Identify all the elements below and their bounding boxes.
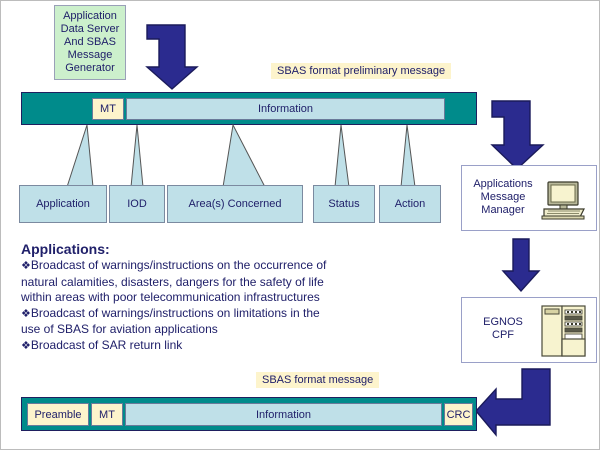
- field-mt-preliminary-label: MT: [100, 103, 116, 115]
- applications-item-3: ❖Broadcast of warnings/instructions on l…: [21, 306, 421, 323]
- applications-item-5-text: Broadcast of SAR return link: [31, 338, 182, 352]
- field-information-final: Information: [125, 403, 442, 426]
- panel1-line-0: Applications: [470, 178, 536, 191]
- field-mt-final: MT: [91, 403, 123, 426]
- applications-item-2: within areas with poor telecommunication…: [21, 290, 421, 306]
- field-information-final-label: Information: [256, 409, 311, 421]
- source-line-2: And SBAS: [64, 36, 116, 49]
- final-message-label: SBAS format message: [256, 372, 379, 388]
- panel1-line-2: Manager: [470, 204, 536, 217]
- server-rack-icon: [540, 304, 588, 358]
- source-line-0: Application: [63, 10, 117, 23]
- callout-action: Action: [379, 125, 441, 225]
- arrow-bar-to-manager: [490, 99, 550, 171]
- field-preamble-label: Preamble: [34, 409, 81, 421]
- field-mt-final-label: MT: [99, 409, 115, 421]
- panel-egnos-cpf: EGNOS CPF: [461, 297, 597, 363]
- callout-application-label: Application: [36, 198, 90, 210]
- callout-iod-box: IOD: [109, 185, 165, 223]
- field-preamble: Preamble: [27, 403, 89, 426]
- panel2-line-1: CPF: [472, 329, 534, 342]
- application-data-server-box: Application Data Server And SBAS Message…: [54, 5, 126, 80]
- field-information-preliminary: Information: [126, 98, 445, 120]
- callout-status-label: Status: [328, 198, 359, 210]
- applications-item-4-text: use of SBAS for aviation applications: [21, 322, 218, 336]
- callout-action-box: Action: [379, 185, 441, 223]
- arrow-manager-to-cpf: [501, 237, 541, 293]
- diagram-canvas: Application Data Server And SBAS Message…: [0, 0, 600, 450]
- applications-item-5: ❖Broadcast of SAR return link: [21, 338, 421, 355]
- applications-item-0-text: Broadcast of warnings/instructions on th…: [31, 258, 327, 272]
- final-message-bar: Preamble MT Information CRC: [21, 397, 477, 431]
- bullet-icon: ❖: [21, 308, 31, 320]
- final-message-label-text: SBAS format message: [262, 374, 373, 386]
- panel-egnos-cpf-text: EGNOS CPF: [472, 316, 534, 342]
- applications-item-1-text: natural calamities, disasters, dangers f…: [21, 275, 324, 289]
- callout-status: Status: [313, 125, 375, 225]
- applications-item-4: use of SBAS for aviation applications: [21, 322, 421, 338]
- callout-application: Application: [19, 125, 107, 225]
- field-crc-label: CRC: [447, 409, 471, 421]
- callout-areas-concerned-label: Area(s) Concerned: [189, 198, 282, 210]
- callout-application-box: Application: [19, 185, 107, 223]
- applications-item-1: natural calamities, disasters, dangers f…: [21, 275, 421, 291]
- applications-item-0: ❖Broadcast of warnings/instructions on t…: [21, 258, 421, 275]
- field-information-preliminary-label: Information: [258, 103, 313, 115]
- preliminary-message-bar: MT Information: [21, 92, 477, 125]
- desktop-computer-icon: [540, 180, 588, 220]
- callout-iod-label: IOD: [127, 198, 147, 210]
- callout-status-box: Status: [313, 185, 375, 223]
- applications-text-block: Applications: ❖Broadcast of warnings/ins…: [21, 240, 421, 354]
- callout-areas-concerned-box: Area(s) Concerned: [167, 185, 303, 223]
- applications-heading: Applications:: [21, 240, 421, 258]
- preliminary-message-label-text: SBAS format preliminary message: [277, 65, 445, 77]
- callout-action-label: Action: [395, 198, 426, 210]
- bullet-icon: ❖: [21, 340, 31, 352]
- field-mt-preliminary: MT: [92, 98, 124, 120]
- applications-item-3-text: Broadcast of warnings/instructions on li…: [31, 306, 320, 320]
- panel-applications-message-manager: Applications Message Manager: [461, 165, 597, 231]
- field-crc: CRC: [444, 403, 473, 426]
- panel2-line-0: EGNOS: [472, 316, 534, 329]
- bullet-icon: ❖: [21, 260, 31, 272]
- applications-item-2-text: within areas with poor telecommunication…: [21, 290, 320, 304]
- arrow-source-to-bar: [145, 23, 207, 91]
- arrow-cpf-to-final-bar: [474, 367, 554, 437]
- source-line-4: Generator: [65, 62, 115, 75]
- source-line-3: Message: [68, 49, 113, 62]
- preliminary-message-label: SBAS format preliminary message: [271, 63, 451, 79]
- callout-areas-concerned: Area(s) Concerned: [167, 125, 303, 225]
- source-line-1: Data Server: [61, 23, 120, 36]
- panel1-line-1: Message: [470, 191, 536, 204]
- panel-applications-message-manager-text: Applications Message Manager: [470, 178, 536, 217]
- callout-iod: IOD: [109, 125, 165, 225]
